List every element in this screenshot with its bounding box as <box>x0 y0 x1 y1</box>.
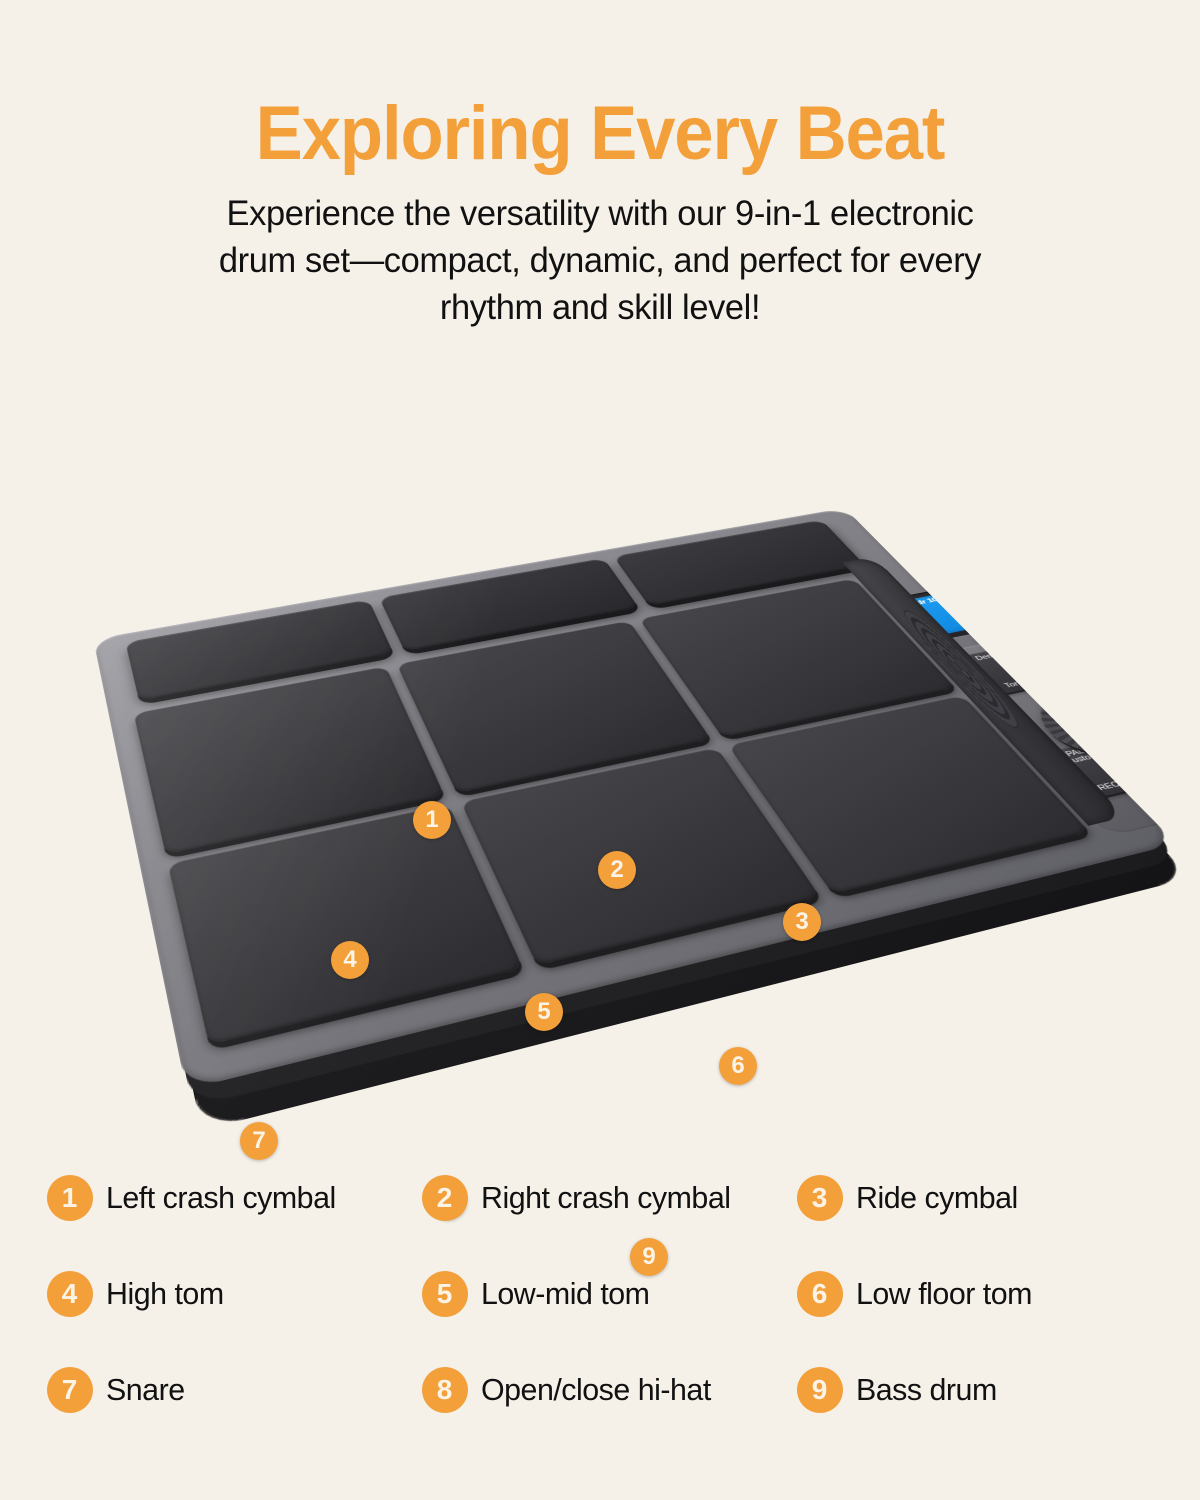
legend-badge-6: 6 <box>797 1271 843 1317</box>
drum-machine-device: dr 10 1/4 Drum stand speed 100 <box>140 388 1070 1108</box>
callout-badge-6: 6 <box>719 1047 757 1085</box>
page-subtitle: Experience the versatility with our 9-in… <box>217 190 983 331</box>
lcd-status-row: dr 10 1/4 <box>910 579 1033 607</box>
legend-label-2: Right crash cymbal <box>481 1180 731 1216</box>
lcd-preset-name: Drum stand <box>921 590 1047 621</box>
legend-badge-8: 8 <box>422 1367 468 1413</box>
legend-badge-1: 1 <box>47 1175 93 1221</box>
legend-item: 4 High tom <box>47 1271 422 1317</box>
legend-label-3: Ride cymbal <box>856 1180 1018 1216</box>
legend-label-7: Snare <box>106 1372 185 1408</box>
rec-label: REC <box>1096 781 1122 792</box>
drum-pad-7[interactable] <box>168 804 524 1045</box>
legend-badge-7: 7 <box>47 1367 93 1413</box>
legend-item: 7 Snare <box>47 1367 422 1413</box>
legend-badge-3: 3 <box>797 1175 843 1221</box>
lcd-speed-value: 100 <box>998 607 1020 616</box>
legend-label-9: Bass drum <box>856 1372 997 1408</box>
demo-label: Demo <box>974 652 1002 662</box>
legend-item: 9 Bass drum <box>797 1367 1172 1413</box>
lcd-kit-value: dr 10 <box>915 597 940 606</box>
pad-custom-label: PAD Custom <box>1048 744 1112 768</box>
demo-tone-button[interactable]: Demo Tone <box>957 646 1048 696</box>
page-title: Exploring Every Beat <box>42 96 1158 172</box>
legend-badge-2: 2 <box>422 1175 468 1221</box>
jog-wheel-center[interactable] <box>1048 694 1152 748</box>
product-image-stage: dr 10 1/4 Drum stand speed 100 <box>0 370 1200 1160</box>
legend-item: 6 Low floor tom <box>797 1271 1172 1317</box>
legend-label-6: Low floor tom <box>856 1276 1032 1312</box>
legend-item: 3 Ride cymbal <box>797 1175 1172 1221</box>
legend-label-5: Low-mid tom <box>481 1276 649 1312</box>
legend-label-8: Open/close hi-hat <box>481 1372 711 1408</box>
lcd-speed-label: speed <box>969 611 1002 623</box>
jog-wheel[interactable] <box>1019 680 1177 764</box>
legend-label-1: Left crash cymbal <box>106 1180 336 1216</box>
metronome-icon <box>1079 673 1097 682</box>
callout-badge-7: 7 <box>240 1122 278 1160</box>
legend-item: 1 Left crash cymbal <box>47 1175 422 1221</box>
callout-badge-5: 5 <box>525 993 563 1031</box>
full-level-label: Full Level <box>1132 737 1176 752</box>
legend-label-4: High tom <box>106 1276 224 1312</box>
legend-item: 5 Low-mid tom <box>422 1271 797 1317</box>
lcd-beat-value: 1/4 <box>952 591 969 598</box>
callout-badge-3: 3 <box>783 903 821 941</box>
battery-icon <box>1022 591 1039 598</box>
drum-pad-8[interactable] <box>461 747 821 965</box>
drum-pad-4[interactable] <box>134 666 445 854</box>
lcd-display: dr 10 1/4 Drum stand speed 100 <box>908 577 1062 635</box>
tempo-metronome-button[interactable]: Tempo <box>1029 641 1122 690</box>
legend-item: 8 Open/close hi-hat <box>422 1367 797 1413</box>
legend-badge-5: 5 <box>422 1271 468 1317</box>
legend-badge-4: 4 <box>47 1271 93 1317</box>
callout-badge-1: 1 <box>413 801 451 839</box>
callout-badge-2: 2 <box>598 851 636 889</box>
legend-item: 2 Right crash cymbal <box>422 1175 797 1221</box>
product-infographic-page: Exploring Every Beat Experience the vers… <box>0 0 1200 1500</box>
header: Exploring Every Beat Experience the vers… <box>0 96 1200 331</box>
callout-badge-4: 4 <box>331 941 369 979</box>
tone-label: Tone <box>1003 680 1027 690</box>
legend-badge-9: 9 <box>797 1367 843 1413</box>
pad-custom-rec-button[interactable]: PAD Custom REC <box>1042 741 1145 801</box>
legend: 1 Left crash cymbal 2 Right crash cymbal… <box>0 1175 1200 1413</box>
tempo-label: Tempo <box>1044 646 1075 656</box>
full-level-play-button[interactable]: Full Level <box>1120 733 1177 792</box>
